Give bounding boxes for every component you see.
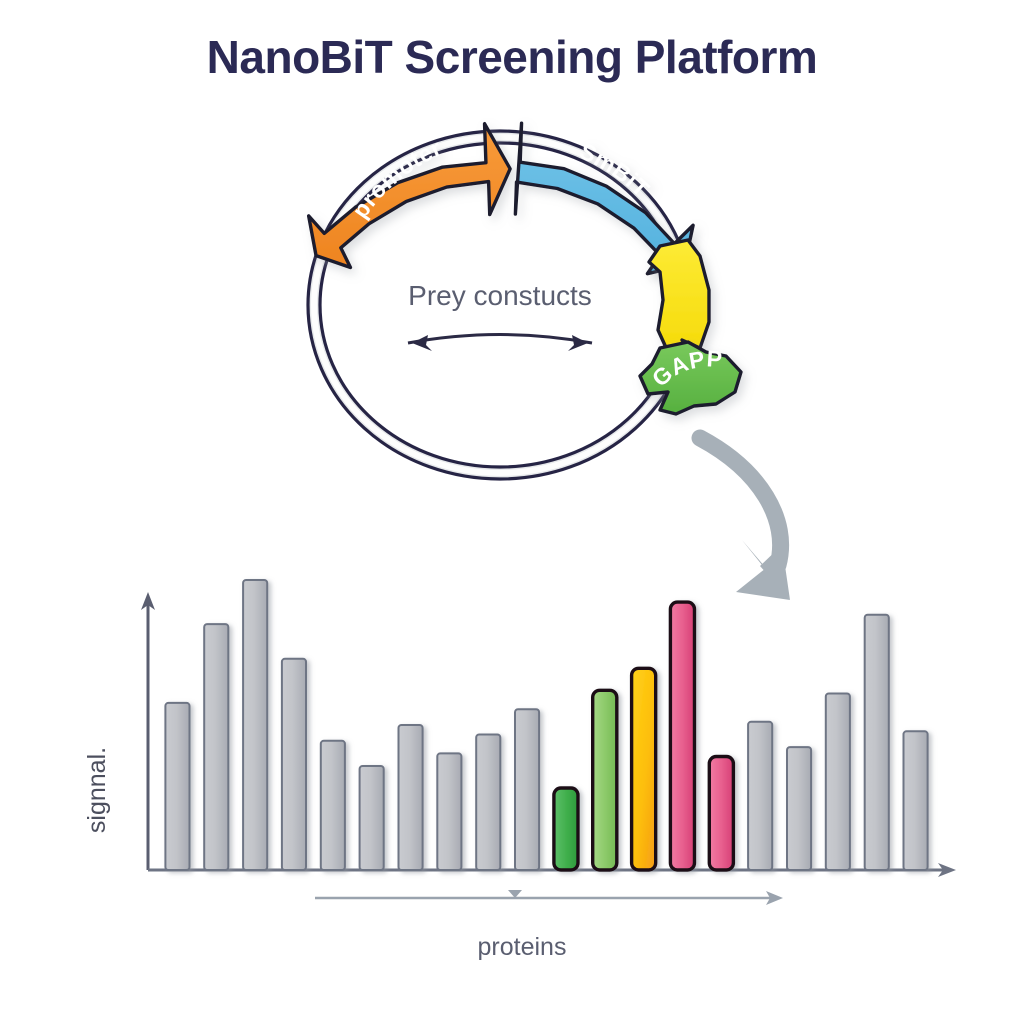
bar[interactable] bbox=[554, 788, 578, 870]
bar[interactable] bbox=[865, 615, 889, 870]
bar[interactable] bbox=[826, 694, 850, 871]
bar[interactable] bbox=[165, 703, 189, 870]
bar[interactable] bbox=[360, 766, 384, 870]
bar[interactable] bbox=[904, 731, 928, 870]
bar[interactable] bbox=[748, 722, 772, 870]
bar[interactable] bbox=[670, 602, 694, 870]
bar[interactable] bbox=[632, 668, 656, 870]
bar[interactable] bbox=[593, 690, 617, 870]
bar[interactable] bbox=[787, 747, 811, 870]
chart-bars bbox=[165, 580, 927, 870]
bar[interactable] bbox=[282, 659, 306, 870]
x-axis-label: proteins bbox=[478, 933, 567, 961]
diagram-canvas: NanoBiT Screening Platform bbox=[0, 0, 1024, 1024]
bar[interactable] bbox=[515, 709, 539, 870]
bar[interactable] bbox=[709, 757, 733, 871]
protein-range-arrow bbox=[315, 890, 783, 905]
bar[interactable] bbox=[243, 580, 267, 870]
bar[interactable] bbox=[437, 753, 461, 870]
bar[interactable] bbox=[476, 735, 500, 871]
bar[interactable] bbox=[321, 741, 345, 870]
bar[interactable] bbox=[204, 624, 228, 870]
bar[interactable] bbox=[399, 725, 423, 870]
y-axis-label: signnal. bbox=[83, 747, 111, 833]
bar-chart: proteins signnal. bbox=[0, 0, 1024, 1024]
